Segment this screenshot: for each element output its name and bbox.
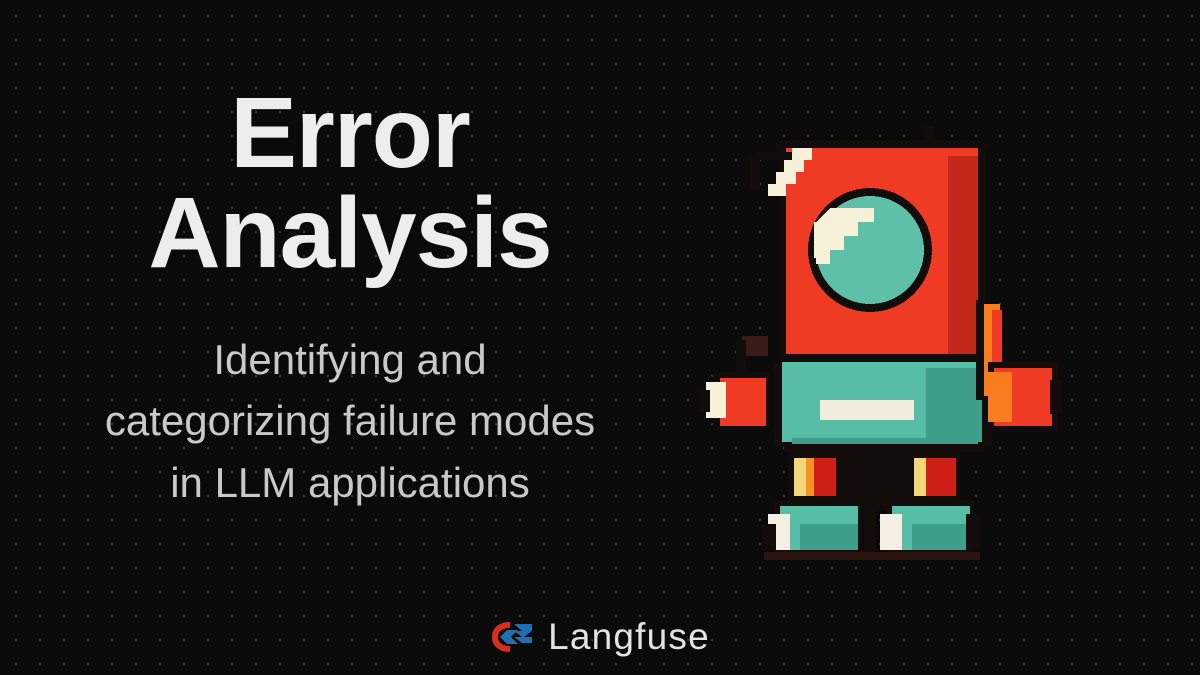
pixel-robot-mascot-icon (680, 100, 1080, 580)
robot-right-hand (976, 300, 1062, 432)
langfuse-logo-icon (490, 620, 534, 654)
page-subtitle: Identifying and categorizing failure mod… (105, 329, 595, 513)
robot-eye (808, 188, 932, 312)
brand-footer: Langfuse (0, 618, 1200, 655)
slide-canvas: Error Analysis Identifying and categoriz… (0, 0, 1200, 675)
robot-torso (774, 362, 992, 452)
robot-left-hand (700, 336, 770, 430)
page-title: Error Analysis (148, 83, 551, 283)
brand-name: Langfuse (548, 618, 710, 655)
text-block: Error Analysis Identifying and categoriz… (0, 0, 700, 600)
